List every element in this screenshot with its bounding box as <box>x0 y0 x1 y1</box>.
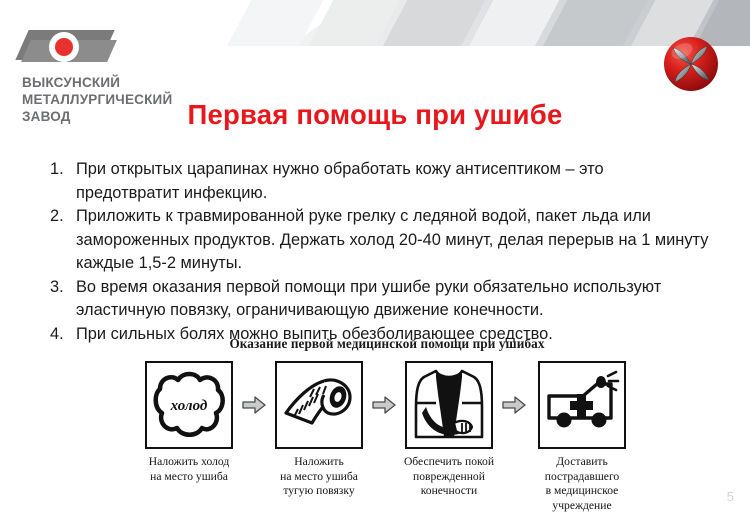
list-item-number: 4. <box>50 323 76 347</box>
diagram-step-1-caption: Наложить холод на место ушиба <box>149 455 230 484</box>
bandage-roll-icon <box>280 369 358 441</box>
diagram-step-4-box <box>538 361 626 449</box>
list-item-text: Приложить к травмированной руке грелку с… <box>76 205 710 276</box>
diagram-step-2-box <box>275 361 363 449</box>
list-item-text: Во время оказания первой помощи при ушиб… <box>76 276 710 323</box>
diagram-step-1-box: холод <box>145 361 233 449</box>
arrow-right-icon <box>372 396 396 414</box>
diagram-step-1: холод Наложить холод на место ушиба <box>137 361 241 484</box>
list-item: 2. Приложить к травмированной руке грелк… <box>50 205 710 276</box>
diagram-connector-1 <box>241 361 267 449</box>
company-logo-mark <box>22 30 108 64</box>
arm-sling-icon <box>410 367 488 443</box>
diagram-steps-row: холод Наложить холод на место ушиба <box>137 361 637 513</box>
slide-canvas: ВЫКСУНСКИЙ МЕТАЛЛУРГИЧЕСКИЙ ЗАВОД <box>0 0 750 518</box>
list-item-number: 2. <box>50 205 76 229</box>
list-item-number: 1. <box>50 158 76 182</box>
diagram-connector-3 <box>501 361 527 449</box>
diagram-step-2: Наложить на место ушиба тугую повязку <box>267 361 371 499</box>
list-item-text: При открытых царапинах нужно обработать … <box>76 158 710 205</box>
page-number: 5 <box>727 489 734 504</box>
diagram-step-4: Доставить пострадавшего в медицинское уч… <box>527 361 637 513</box>
sphere-emblem-icon <box>662 35 720 93</box>
page-title: Первая помощь при ушибе <box>0 99 750 131</box>
diagram-title: Оказание первой медицинской помощи при у… <box>137 336 637 352</box>
list-item: 3. Во время оказания первой помощи при у… <box>50 276 710 323</box>
first-aid-diagram: Оказание первой медицинской помощи при у… <box>137 336 637 513</box>
diagram-step-2-caption: Наложить на место ушиба тугую повязку <box>280 455 358 499</box>
ambulance-icon <box>543 370 621 440</box>
diagram-step-3: Обеспечить покой поврежденной конечности <box>397 361 501 499</box>
omk-sphere-emblem <box>662 35 720 93</box>
diagram-step-3-box <box>405 361 493 449</box>
diagram-step-4-caption: Доставить пострадавшего в медицинское уч… <box>518 455 646 513</box>
ice-pack-icon: холод <box>150 369 228 441</box>
list-item-number: 3. <box>50 276 76 300</box>
diagram-step-3-caption: Обеспечить покой поврежденной конечности <box>404 455 494 499</box>
list-item: 1. При открытых царапинах нужно обработа… <box>50 158 710 205</box>
logo-dot-red <box>55 38 73 56</box>
arrow-right-icon <box>242 396 266 414</box>
first-aid-steps-list: 1. При открытых царапинах нужно обработа… <box>50 158 710 346</box>
arrow-right-icon <box>502 396 526 414</box>
company-logo-line-1: ВЫКСУНСКИЙ <box>22 74 202 91</box>
ice-pack-label: холод <box>170 398 208 414</box>
diagram-connector-2 <box>371 361 397 449</box>
